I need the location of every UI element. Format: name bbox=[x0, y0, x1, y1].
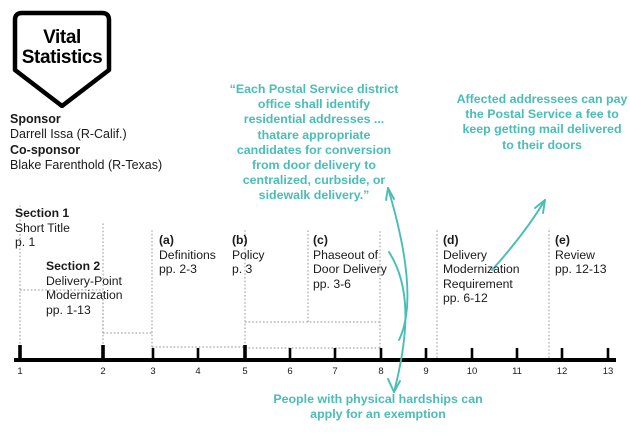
label-line: pp. 3-6 bbox=[313, 277, 395, 292]
timeline-ticks bbox=[20, 345, 608, 360]
label-line: Modernization bbox=[46, 288, 146, 303]
label-line: pp. 6-12 bbox=[443, 291, 535, 306]
label-line: Definitions bbox=[159, 248, 239, 263]
tick-label: 1 bbox=[14, 366, 26, 377]
label-line: pp. 12-13 bbox=[555, 262, 627, 277]
tick-label: 2 bbox=[97, 366, 109, 377]
label-subsection-a: (a) Definitions pp. 2-3 bbox=[159, 233, 239, 277]
tick-label: 13 bbox=[600, 366, 616, 377]
label-title: Section 1 bbox=[15, 206, 110, 221]
label-title: (c) bbox=[313, 233, 395, 248]
label-subsection-e: (e) Review pp. 12-13 bbox=[555, 233, 627, 277]
tick-label: 8 bbox=[375, 366, 387, 377]
tick-label: 10 bbox=[464, 366, 480, 377]
tick-label: 7 bbox=[329, 366, 341, 377]
tick-label: 12 bbox=[554, 366, 570, 377]
label-line: Short Title bbox=[15, 221, 110, 236]
arrow-quote-head-b bbox=[386, 188, 388, 200]
label-line: p. 3 bbox=[232, 262, 302, 277]
label-line: Review bbox=[555, 248, 627, 263]
label-line: Policy bbox=[232, 248, 302, 263]
label-line: Requirement bbox=[443, 277, 535, 292]
tick-label: 3 bbox=[147, 366, 159, 377]
label-line: p. 1 bbox=[15, 235, 110, 250]
tick-label: 11 bbox=[509, 366, 525, 377]
label-title: (b) bbox=[232, 233, 302, 248]
label-title: Section 2 bbox=[46, 259, 146, 274]
label-line: Delivery-Point bbox=[46, 274, 146, 289]
label-subsection-d: (d) Delivery Modernization Requirement p… bbox=[443, 233, 535, 306]
tick-label: 9 bbox=[420, 366, 432, 377]
label-line: Delivery bbox=[443, 248, 535, 263]
tick-label: 6 bbox=[284, 366, 296, 377]
infographic-canvas: Vital Statistics Sponsor Darrell Issa (R… bbox=[0, 0, 630, 435]
tick-label: 4 bbox=[192, 366, 204, 377]
label-line: Modernization bbox=[443, 262, 535, 277]
label-line: Door Delivery bbox=[313, 262, 395, 277]
label-section-1: Section 1 Short Title p. 1 bbox=[15, 206, 110, 250]
label-section-2: Section 2 Delivery-Point Modernization p… bbox=[46, 259, 146, 317]
label-subsection-b: (b) Policy p. 3 bbox=[232, 233, 302, 277]
label-title: (e) bbox=[555, 233, 627, 248]
label-subsection-c: (c) Phaseout of Door Delivery pp. 3-6 bbox=[313, 233, 395, 291]
tick-label: 5 bbox=[239, 366, 251, 377]
label-line: pp. 1-13 bbox=[46, 303, 146, 318]
arrow-hardship-head-a bbox=[388, 379, 394, 392]
label-title: (a) bbox=[159, 233, 239, 248]
label-line: pp. 2-3 bbox=[159, 262, 239, 277]
label-line: Phaseout of bbox=[313, 248, 395, 263]
label-title: (d) bbox=[443, 233, 535, 248]
